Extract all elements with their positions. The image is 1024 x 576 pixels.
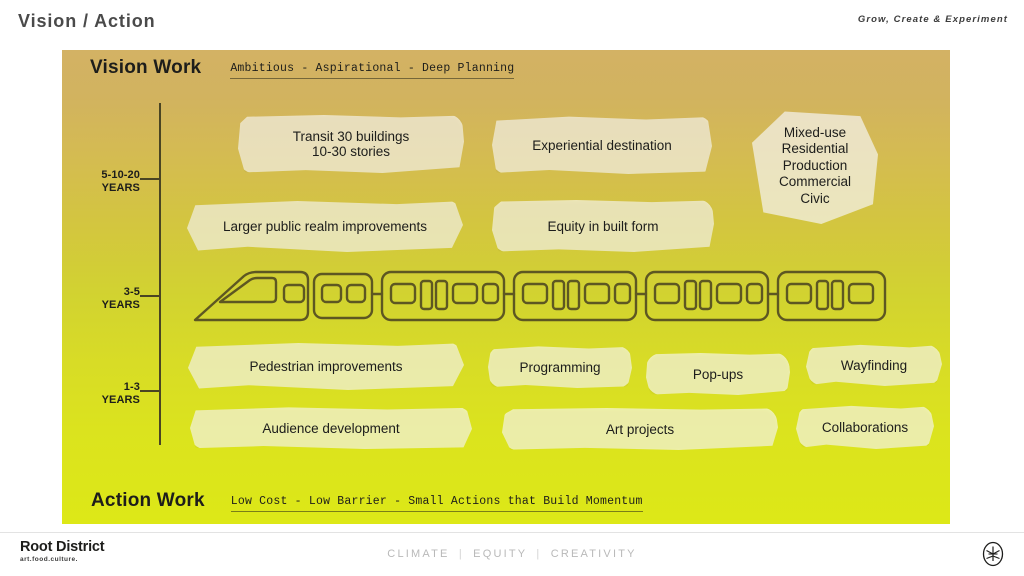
axis-label-1-3-line2: YEARS xyxy=(62,394,140,407)
bubble-larger-public-realm-label: Larger public realm improvements xyxy=(213,219,437,234)
footer-value-creativity: CREATIVITY xyxy=(551,548,637,560)
bubble-experiential-destination[interactable]: Experiential destination xyxy=(492,116,712,174)
bubble-mixed-use-line4: Commercial xyxy=(769,174,861,189)
bubble-programming-label: Programming xyxy=(509,360,610,375)
bubble-audience-development[interactable]: Audience development xyxy=(190,407,472,449)
bubble-art-projects[interactable]: Art projects xyxy=(502,408,778,450)
bubble-wayfinding[interactable]: Wayfinding xyxy=(806,344,942,386)
axis-label-3-5-line1: 3-5 xyxy=(62,286,140,299)
bubble-transit-line1: Transit 30 buildings xyxy=(283,129,420,144)
bubble-mixed-use-line1: Mixed-use xyxy=(774,125,856,140)
bubble-pop-ups[interactable]: Pop-ups xyxy=(646,353,790,395)
page-title: Vision / Action xyxy=(18,11,156,32)
slide-header: Vision / Action Grow, Create & Experimen… xyxy=(0,0,1024,48)
footer-value-equity: EQUITY xyxy=(473,548,527,560)
bubble-wayfinding-label: Wayfinding xyxy=(831,358,917,373)
slide: Vision / Action Grow, Create & Experimen… xyxy=(0,0,1024,576)
bubble-audience-development-label: Audience development xyxy=(252,421,409,436)
bubble-mixed-use-line5: Civic xyxy=(790,191,839,206)
bubble-transit-30-buildings[interactable]: Transit 30 buildings 10-30 stories xyxy=(238,115,464,173)
slide-footer: Root District art.food.culture. CLIMATE … xyxy=(0,532,1024,576)
bubble-programming[interactable]: Programming xyxy=(488,346,632,388)
bubble-equity-in-built-form-label: Equity in built form xyxy=(537,219,668,234)
axis-label-1-3: 1-3 YEARS xyxy=(62,381,140,406)
bubble-mixed-use-line2: Residential xyxy=(772,141,859,156)
bubble-art-projects-label: Art projects xyxy=(596,422,684,437)
axis-label-5-10-20-line2: YEARS xyxy=(62,182,140,195)
bubble-collaborations-label: Collaborations xyxy=(812,420,918,435)
bubble-transit-line2: 10-30 stories xyxy=(302,144,400,159)
bubble-larger-public-realm-improvements[interactable]: Larger public realm improvements xyxy=(187,200,463,252)
axis-tick-1-3 xyxy=(140,390,160,392)
action-work-subtitle: Low Cost - Low Barrier - Small Actions t… xyxy=(231,495,643,512)
bubble-equity-in-built-form[interactable]: Equity in built form xyxy=(492,200,714,252)
axis-label-3-5-line2: YEARS xyxy=(62,299,140,312)
diagram-canvas: Vision Work Ambitious - Aspirational - D… xyxy=(62,50,950,524)
axis-tick-5-10-20 xyxy=(140,178,160,180)
bubble-collaborations[interactable]: Collaborations xyxy=(796,405,934,449)
footer-values: CLIMATE | EQUITY | CREATIVITY xyxy=(0,548,1024,560)
root-sprout-logo-icon xyxy=(980,540,1006,573)
train-illustration xyxy=(192,264,887,326)
vision-work-band: Vision Work Ambitious - Aspirational - D… xyxy=(90,57,514,79)
header-tagline: Grow, Create & Experiment xyxy=(858,14,1008,25)
timeline-axis xyxy=(159,103,161,445)
axis-label-5-10-20: 5-10-20 YEARS xyxy=(62,169,140,194)
action-work-title: Action Work xyxy=(91,490,205,512)
axis-label-1-3-line1: 1-3 xyxy=(62,381,140,394)
action-work-band: Action Work Low Cost - Low Barrier - Sma… xyxy=(91,490,643,512)
footer-divider xyxy=(0,532,1024,533)
bubble-experiential-destination-label: Experiential destination xyxy=(522,138,682,153)
axis-label-5-10-20-line1: 5-10-20 xyxy=(62,169,140,182)
bubble-pedestrian-improvements[interactable]: Pedestrian improvements xyxy=(188,342,464,390)
footer-separator-2: | xyxy=(536,548,541,560)
vision-work-subtitle: Ambitious - Aspirational - Deep Planning xyxy=(230,62,514,79)
bubble-mixed-use-stack[interactable]: Mixed-use Residential Production Commerc… xyxy=(752,108,878,224)
axis-tick-3-5 xyxy=(140,295,160,297)
axis-label-3-5: 3-5 YEARS xyxy=(62,286,140,311)
bubble-pop-ups-label: Pop-ups xyxy=(683,367,753,382)
footer-separator-1: | xyxy=(459,548,464,560)
footer-value-climate: CLIMATE xyxy=(387,548,449,560)
bubble-pedestrian-improvements-label: Pedestrian improvements xyxy=(239,359,412,374)
bubble-mixed-use-line3: Production xyxy=(773,158,858,173)
vision-work-title: Vision Work xyxy=(90,57,201,79)
